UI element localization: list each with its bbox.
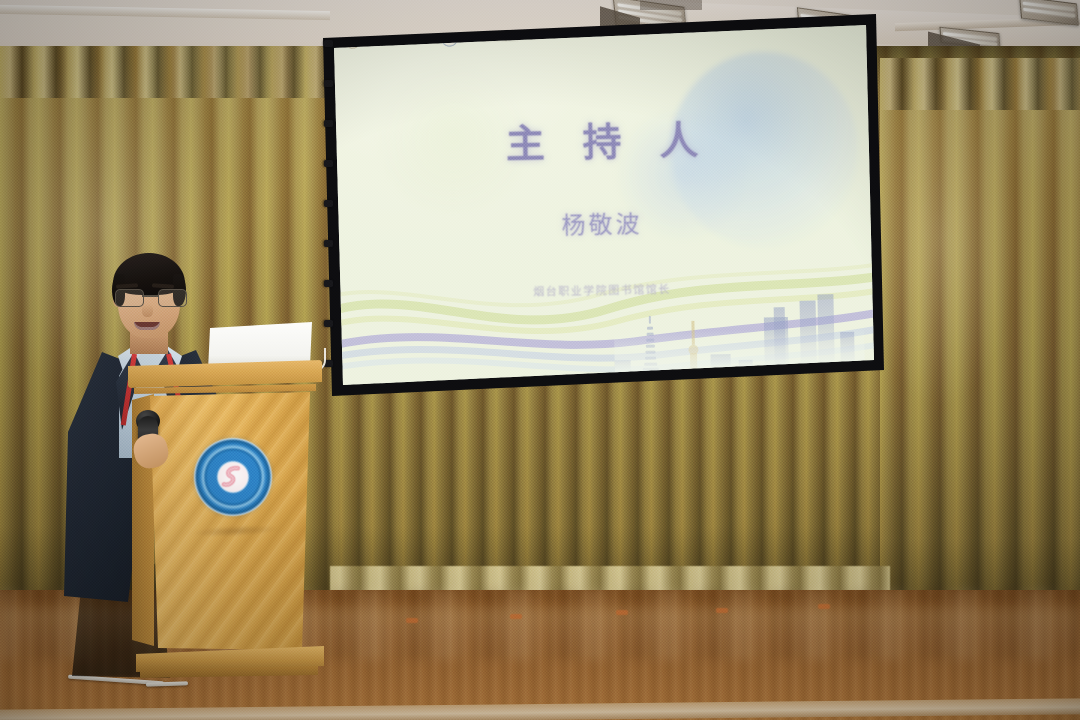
curtain-right <box>880 58 1080 658</box>
eyeglass-lens-left <box>115 289 144 307</box>
floor-nail-5 <box>818 604 830 609</box>
screen-tension-hooks <box>324 40 336 392</box>
nose <box>142 304 153 317</box>
emblem-glyph <box>216 460 250 494</box>
eyeglass-bridge <box>142 295 158 297</box>
mouth <box>134 322 160 330</box>
floor-nail-3 <box>616 610 628 615</box>
projection-screen: 职业教育信息化 VOCATIONAL EDUCATION nGi 数字图书馆 D… <box>318 14 886 396</box>
ceiling-rail-left <box>0 5 330 20</box>
slide-skyline <box>613 280 865 373</box>
floor-nail-4 <box>716 608 728 613</box>
slide-title: 主 持 人 <box>318 107 886 174</box>
eyeglass-lens-right <box>158 289 187 307</box>
floor-nail-2 <box>510 614 522 619</box>
college-emblem-icon <box>194 438 272 516</box>
slide-surface: 职业教育信息化 VOCATIONAL EDUCATION nGi 数字图书馆 D… <box>318 14 886 396</box>
ceiling-vent <box>640 0 702 10</box>
stage-photo-scene: 职业教育信息化 VOCATIONAL EDUCATION nGi 数字图书馆 D… <box>0 0 1080 720</box>
podium-top-surface <box>128 360 322 388</box>
floor-nail-1 <box>406 618 418 623</box>
